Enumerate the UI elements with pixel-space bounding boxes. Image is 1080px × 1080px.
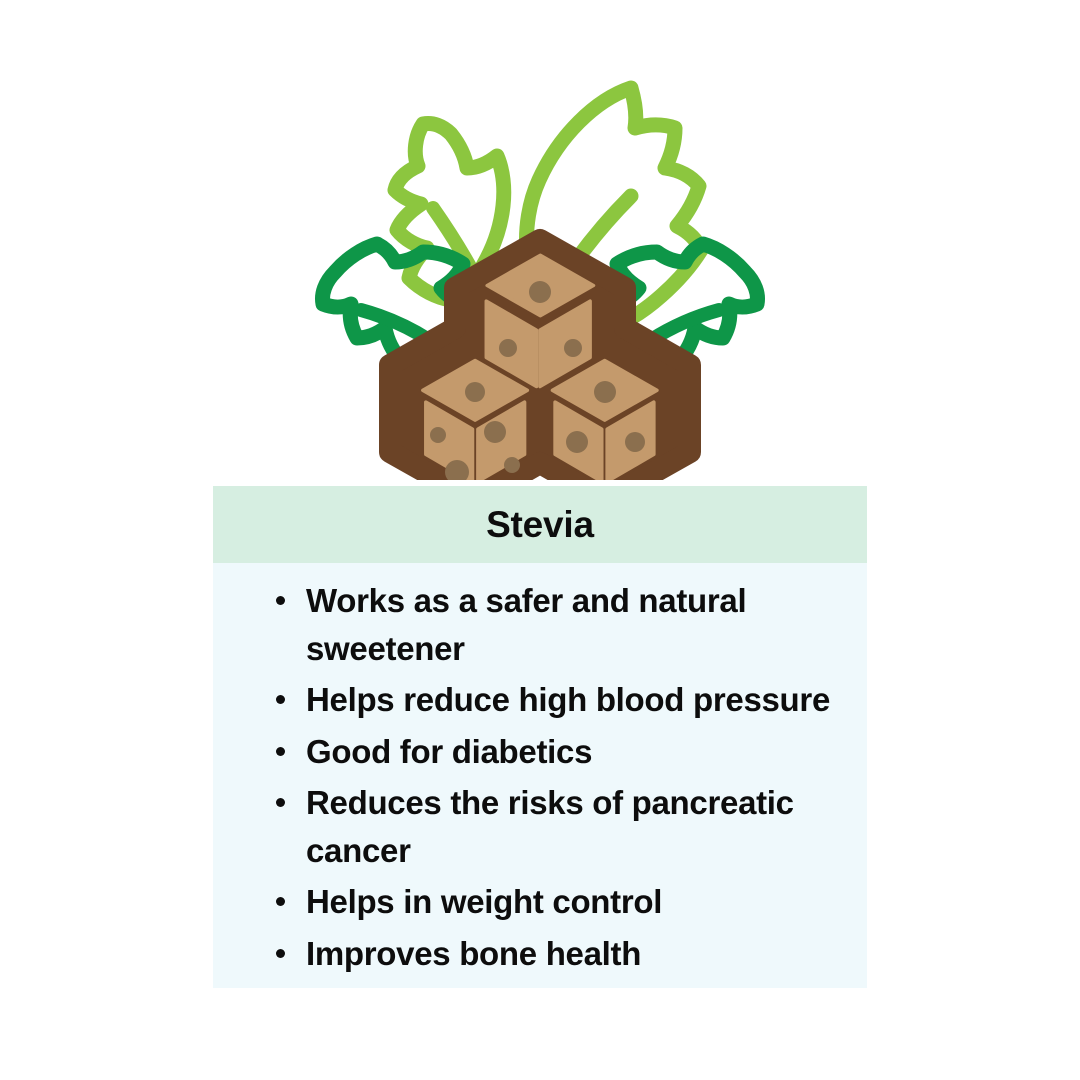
list-item: Works as a safer and natural sweetener	[270, 577, 837, 672]
list-item-label: Reduces the risks of pancreatic cancer	[306, 784, 794, 869]
list-item-label: Good for diabetics	[306, 733, 592, 770]
list-item: Reduces the risks of pancreatic cancer	[270, 779, 837, 874]
bullet-icon	[276, 695, 285, 704]
panel-header: Stevia	[213, 486, 867, 563]
bullet-icon	[276, 949, 285, 958]
list-item: Helps reduce high blood pressure	[270, 676, 837, 724]
stevia-illustration	[305, 60, 775, 480]
list-item-label: Helps reduce high blood pressure	[306, 681, 830, 718]
list-item: Improves bone health	[270, 930, 837, 978]
bullet-icon	[276, 596, 285, 605]
bullet-icon	[276, 747, 285, 756]
list-item-label: Works as a safer and natural sweetener	[306, 582, 746, 667]
list-item: Good for diabetics	[270, 728, 837, 776]
benefits-list: Works as a safer and natural sweetener H…	[270, 577, 837, 977]
list-item-label: Helps in weight control	[306, 883, 662, 920]
benefits-panel: Stevia Works as a safer and natural swee…	[213, 486, 867, 988]
stevia-info-card: Stevia Works as a safer and natural swee…	[0, 0, 1080, 1080]
page-title: Stevia	[486, 506, 594, 543]
sugar-cubes-group	[390, 240, 690, 480]
list-item: Helps in weight control	[270, 878, 837, 926]
bullet-icon	[276, 798, 285, 807]
panel-body: Works as a safer and natural sweetener H…	[213, 563, 867, 977]
bullet-icon	[276, 897, 285, 906]
list-item-label: Improves bone health	[306, 935, 641, 972]
